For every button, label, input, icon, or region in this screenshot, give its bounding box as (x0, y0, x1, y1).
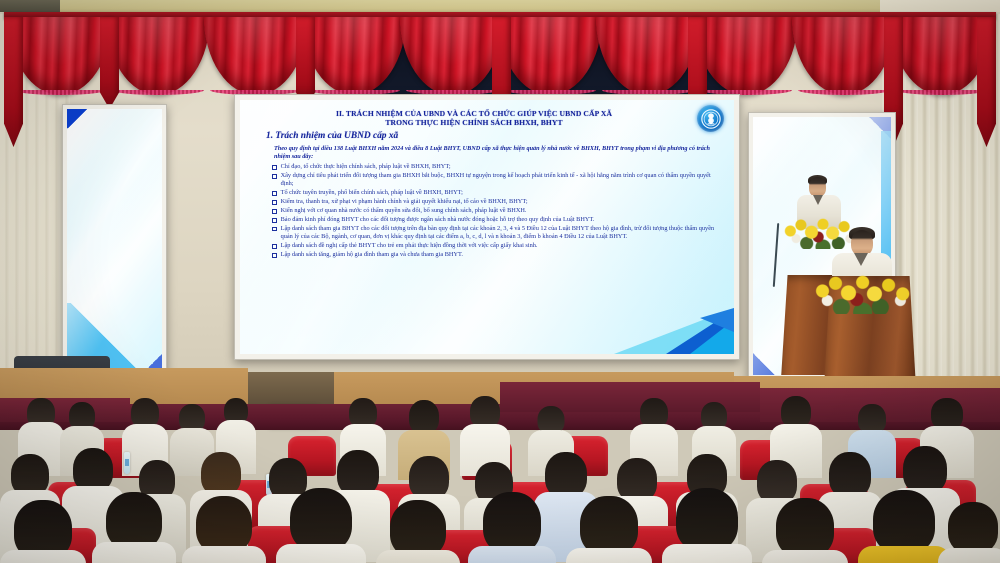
head (580, 496, 638, 556)
checkbox-bullet-icon (272, 218, 277, 223)
head (776, 498, 834, 558)
audience-member (662, 488, 752, 563)
head (903, 446, 947, 494)
slide-section-heading: 1. Trách nhiệm của UBND cấp xã (252, 128, 724, 143)
checkbox-bullet-icon (272, 200, 277, 205)
curtain-tail-right (977, 17, 996, 147)
torso (376, 550, 460, 563)
head (290, 488, 352, 552)
slide-bullet: Kiểm tra, thanh tra, xử phạt vi phạm hàn… (272, 198, 716, 206)
swag-9 (792, 17, 896, 95)
left-screen-sheen (67, 109, 162, 371)
swag-8 (694, 17, 798, 95)
bullet-text: Lập danh sách tăng, giảm hộ gia đình tha… (281, 251, 716, 259)
torso (566, 548, 652, 563)
swag-5 (400, 17, 504, 95)
audience-member (182, 496, 266, 563)
bullet-text: Tổ chức tuyên truyền, phổ biến chính sác… (281, 189, 716, 197)
bullet-text: Bảo đảm kinh phí đóng BHYT cho các đối t… (281, 216, 716, 224)
torso (858, 546, 950, 563)
slide-bullet: Lập danh sách đề nghị cấp thẻ BHYT cho t… (272, 242, 716, 250)
bullet-text: Kiến nghị với cơ quan nhà nước có thẩm q… (281, 207, 716, 215)
left-screen[interactable] (67, 109, 162, 371)
bullet-text: Kiểm tra, thanh tra, xử phạt vi phạm hàn… (281, 198, 716, 206)
checkbox-bullet-icon (272, 209, 277, 214)
audience-member (0, 500, 86, 563)
audience-member (276, 488, 366, 563)
slide-decoration (614, 302, 734, 354)
checkbox-bullet-icon (272, 165, 277, 170)
head (948, 502, 998, 554)
swag-1 (8, 17, 112, 95)
curtain-tail-left (4, 17, 23, 147)
slide-bullet: Xây dựng chỉ tiêu phát triển đối tượng t… (272, 172, 716, 189)
torso (762, 550, 848, 563)
torso (938, 548, 1000, 563)
checkbox-bullet-icon (272, 174, 277, 179)
swag-7 (596, 17, 700, 95)
slide-bullet: Lập danh sách tham gia BHYT cho các đối … (272, 225, 716, 242)
swag-fringe-9 (798, 90, 890, 95)
swag-4 (302, 17, 406, 95)
torso (662, 544, 752, 563)
swag-2 (106, 17, 210, 95)
audience-member (92, 492, 176, 563)
audience-member (762, 498, 848, 563)
head (676, 488, 738, 552)
swag-fringe-10 (896, 90, 988, 95)
checkbox-bullet-icon (272, 227, 277, 232)
bullet-text: Chỉ đạo, tổ chức thực hiện chính sách, p… (281, 163, 716, 171)
checkbox-bullet-icon (272, 244, 277, 249)
audience-member (376, 500, 460, 563)
audience-member (566, 496, 652, 563)
bullet-text: Lập danh sách tham gia BHYT cho các đối … (281, 225, 716, 242)
audience-seating (0, 396, 1000, 563)
checkbox-bullet-icon (272, 253, 277, 258)
torso (0, 550, 86, 563)
slide-bullet: Kiến nghị với cơ quan nhà nước có thẩm q… (272, 207, 716, 215)
head (873, 490, 935, 554)
audience-member (858, 490, 950, 563)
audience-member (938, 502, 1000, 563)
torso (182, 546, 266, 563)
conference-hall-scene: II. TRÁCH NHIỆM CỦA UBND VÀ CÁC TỔ CHỨC … (0, 0, 1000, 563)
main-screen[interactable]: II. TRÁCH NHIỆM CỦA UBND VÀ CÁC TỔ CHỨC … (240, 100, 734, 354)
slide-bullet: Lập danh sách tăng, giảm hộ gia đình tha… (272, 251, 716, 259)
head (483, 492, 541, 554)
stage-flower-arrangement (806, 266, 924, 314)
slide-title-line1: II. TRÁCH NHIỆM CỦA UBND VÀ CÁC TỔ CHỨC … (252, 106, 724, 118)
head (409, 400, 439, 434)
slide-bullet: Tổ chức tuyên truyền, phổ biến chính sác… (272, 189, 716, 197)
torso (92, 542, 176, 563)
curtain-tail-a (100, 17, 119, 109)
bullet-text: Lập danh sách đề nghị cấp thẻ BHYT cho t… (281, 242, 716, 250)
torso (276, 544, 366, 563)
swag-6 (498, 17, 602, 95)
torso (468, 546, 556, 563)
screen-speaker-head (809, 177, 826, 197)
swag-fringe-1 (14, 90, 106, 95)
slide-intro-paragraph: Theo quy định tại điều 138 Luật BHXH năm… (252, 143, 724, 162)
slide-title-line2: TRONG THỰC HIỆN CHÍNH SÁCH BHXH, BHYT (252, 118, 724, 127)
swag-fringe-2 (112, 90, 204, 95)
slide-bullet: Chỉ đạo, tổ chức thực hiện chính sách, p… (272, 163, 716, 171)
bhxh-logo-icon (697, 105, 724, 132)
checkbox-bullet-icon (272, 191, 277, 196)
swag-3 (204, 17, 308, 95)
bullet-text: Xây dựng chỉ tiêu phát triển đối tượng t… (281, 172, 716, 189)
slide-bullet: Bảo đảm kinh phí đóng BHYT cho các đối t… (272, 216, 716, 224)
audience-member (468, 492, 556, 563)
slide-bullet-list: Chỉ đạo, tổ chức thực hiện chính sách, p… (252, 162, 724, 259)
